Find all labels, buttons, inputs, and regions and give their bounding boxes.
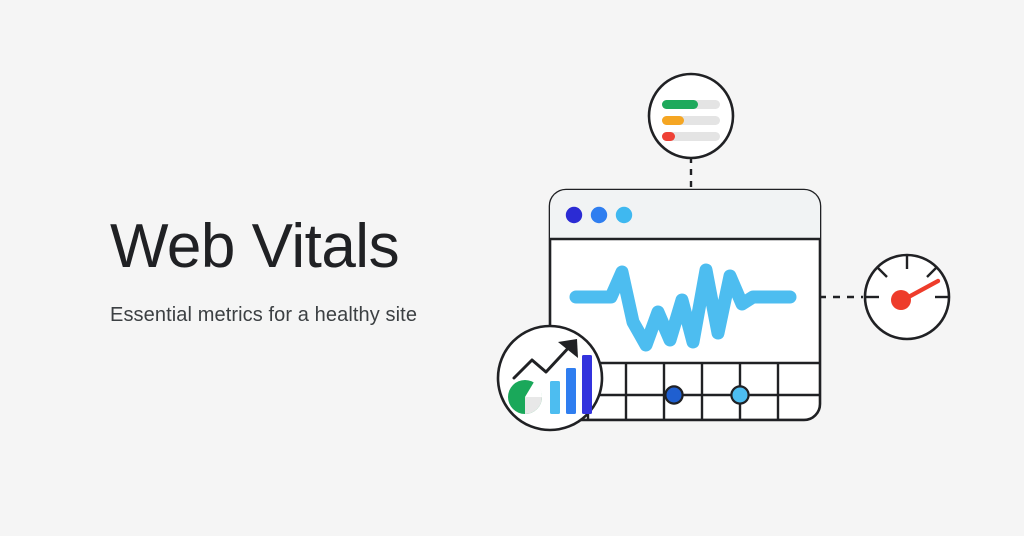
page-subtitle: Essential metrics for a healthy site bbox=[110, 304, 490, 327]
score-bars-badge bbox=[649, 74, 733, 158]
dot-cyan-icon bbox=[616, 207, 632, 223]
page-title: Web Vitals bbox=[110, 216, 490, 278]
analytics-badge bbox=[498, 326, 602, 430]
window-title-bar bbox=[550, 190, 820, 239]
score-bar-needs-improvement bbox=[662, 116, 684, 125]
hero-text-block: Web Vitals Essential metrics for a healt… bbox=[110, 216, 490, 327]
analytics-bar-1 bbox=[550, 381, 560, 414]
gauge-hub-icon bbox=[891, 290, 911, 310]
hero-banner: Web Vitals Essential metrics for a healt… bbox=[0, 0, 1024, 536]
analytics-bar-3 bbox=[582, 355, 592, 414]
dot-blue-icon bbox=[591, 207, 607, 223]
score-bar-good bbox=[662, 100, 698, 109]
analytics-bar-2 bbox=[566, 368, 576, 414]
grid-node-1 bbox=[665, 386, 682, 403]
score-bar-poor bbox=[662, 132, 675, 141]
web-vitals-illustration bbox=[470, 50, 1010, 480]
speed-gauge-badge bbox=[865, 255, 949, 339]
grid-node-2 bbox=[731, 386, 748, 403]
dot-indigo-icon bbox=[566, 207, 582, 223]
